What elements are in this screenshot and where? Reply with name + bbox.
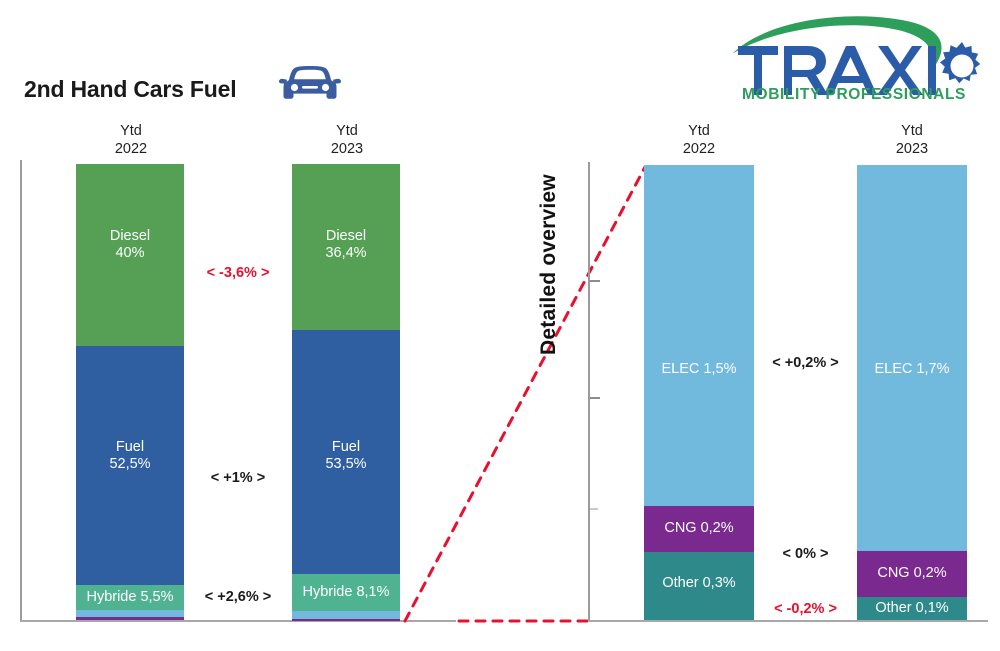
segment-other-label: Other 0,1% (857, 600, 967, 617)
col-head-period: Ytd (644, 122, 754, 140)
segment-cng-label: CNG 0,2% (644, 520, 754, 537)
segment-hybride[interactable]: Hybride 8,1% (292, 574, 400, 611)
right-bar-2022[interactable]: ELEC 1,5% CNG 0,2% Other 0,3% (644, 165, 754, 620)
left-chart-header-2022: Ytd 2022 (76, 122, 186, 158)
left-chart-y-axis (20, 160, 22, 621)
col-head-year: 2022 (644, 140, 754, 158)
col-head-year: 2022 (76, 140, 186, 158)
right-chart-tick-lower (590, 397, 600, 399)
left-chart-header-2023: Ytd 2023 (292, 122, 402, 158)
logo-tagline: MOBILITY PROFESSIONALS (726, 86, 982, 104)
col-head-period: Ytd (76, 122, 186, 140)
segment-hybride-label: Hybride 5,5% (76, 589, 184, 606)
segment-other[interactable]: Other 0,3% (644, 552, 754, 620)
left-delta-fuel: < +1% > (184, 470, 292, 486)
segment-diesel-name: Diesel (76, 228, 184, 245)
col-head-period: Ytd (292, 122, 402, 140)
segment-diesel-value: 36,4% (292, 245, 400, 262)
right-delta-cng: < 0% > (754, 546, 857, 562)
right-chart-tick-upper (590, 280, 600, 282)
segment-elec[interactable] (292, 611, 400, 619)
segment-fuel-value: 52,5% (76, 456, 184, 473)
segment-hybride[interactable]: Hybride 5,5% (76, 585, 184, 610)
slide-canvas: 2nd Hand Cars Fuel (0, 0, 1000, 651)
left-delta-diesel: < -3,6% > (184, 265, 292, 281)
segment-diesel[interactable]: Diesel 36,4% (292, 164, 400, 330)
left-bar-2023[interactable]: Diesel 36,4% Fuel 53,5% Hybride 8,1% (292, 164, 400, 620)
segment-cng[interactable] (76, 617, 184, 620)
segment-elec[interactable] (76, 610, 184, 617)
right-chart-header-2022: Ytd 2022 (644, 122, 754, 158)
segment-fuel[interactable]: Fuel 53,5% (292, 330, 400, 574)
detailed-overview-axis-label: Detailed overview (537, 105, 563, 355)
segment-elec[interactable]: ELEC 1,7% (857, 165, 967, 551)
segment-diesel-name: Diesel (292, 228, 400, 245)
right-delta-elec: < +0,2% > (754, 355, 857, 371)
right-chart-tick-bottom (590, 508, 598, 510)
segment-fuel-name: Fuel (76, 439, 184, 456)
col-head-year: 2023 (857, 140, 967, 158)
col-head-year: 2023 (292, 140, 402, 158)
segment-fuel[interactable]: Fuel 52,5% (76, 346, 184, 585)
right-chart-baseline (588, 620, 988, 622)
segment-cng[interactable]: CNG 0,2% (644, 506, 754, 552)
right-chart-header-2023: Ytd 2023 (857, 122, 967, 158)
segment-elec-label: ELEC 1,7% (857, 361, 967, 378)
right-delta-other: < -0,2% > (754, 601, 857, 617)
segment-cng[interactable]: CNG 0,2% (857, 551, 967, 597)
right-bar-2023[interactable]: ELEC 1,7% CNG 0,2% Other 0,1% (857, 165, 967, 620)
connector-horizontal (455, 612, 595, 630)
segment-other-label: Other 0,3% (644, 575, 754, 592)
connector-diagonal (395, 155, 655, 635)
col-head-period: Ytd (857, 122, 967, 140)
car-icon (277, 60, 343, 106)
left-bar-2022[interactable]: Diesel 40% Fuel 52,5% Hybride 5,5% (76, 164, 184, 620)
segment-diesel-value: 40% (76, 245, 184, 262)
segment-diesel[interactable]: Diesel 40% (76, 164, 184, 346)
segment-cng[interactable] (292, 619, 400, 621)
page-title: 2nd Hand Cars Fuel (24, 76, 236, 103)
right-chart-y-axis (588, 162, 590, 622)
segment-fuel-name: Fuel (292, 439, 400, 456)
segment-cng-label: CNG 0,2% (857, 565, 967, 582)
segment-elec[interactable]: ELEC 1,5% (644, 165, 754, 506)
segment-other[interactable]: Other 0,1% (857, 597, 967, 620)
segment-fuel-value: 53,5% (292, 456, 400, 473)
segment-hybride-label: Hybride 8,1% (292, 584, 400, 601)
left-delta-hybride: < +2,6% > (184, 589, 292, 605)
segment-elec-label: ELEC 1,5% (644, 361, 754, 378)
